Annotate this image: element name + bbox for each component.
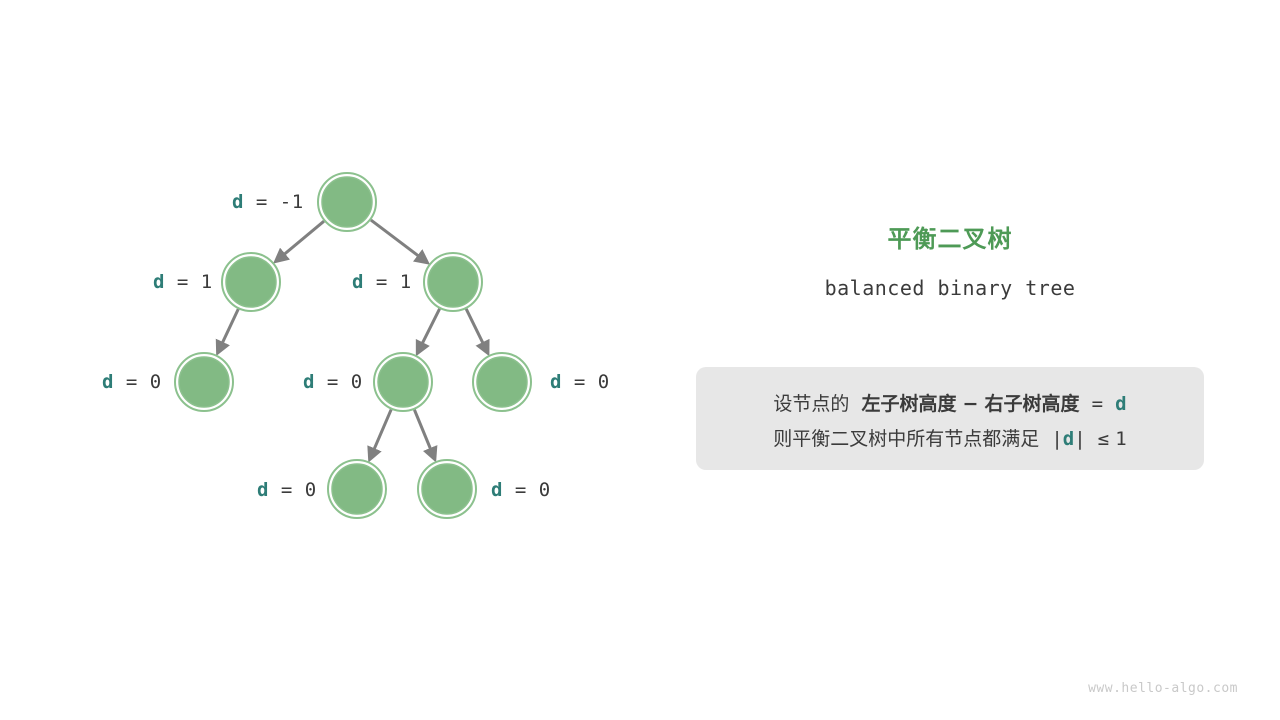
constraint-value: 1 (1115, 428, 1126, 450)
balance-value: = -1 (244, 191, 304, 213)
balance-symbol-d: d (257, 479, 269, 501)
node-balance-label: d = -1 (232, 193, 304, 212)
definition-box: 设节点的 左子树高度 − 右子树高度 = d 则平衡二叉树中所有节点都满足 |d… (696, 367, 1204, 470)
node-balance-label: d = 0 (257, 481, 317, 500)
balance-symbol-d: d (232, 191, 244, 213)
tree-node[interactable] (222, 253, 280, 311)
balance-symbol-d: d (303, 371, 315, 393)
node-disc (378, 357, 428, 407)
balance-value: = 0 (269, 479, 317, 501)
definition-line-1: 设节点的 左子树高度 − 右子树高度 = d (696, 395, 1204, 414)
tree-node[interactable] (418, 460, 476, 518)
panel-title: 平衡二叉树 (696, 225, 1204, 254)
tree-node[interactable] (175, 353, 233, 411)
tree-edge (414, 410, 433, 457)
definition-minus: − (963, 393, 979, 415)
abs-bar-left: | (1051, 428, 1062, 450)
constraint-relation: ≤ (1098, 428, 1109, 450)
node-disc (179, 357, 229, 407)
tree-edge (219, 309, 238, 350)
node-disc (226, 257, 276, 307)
binary-tree-diagram (0, 0, 660, 600)
balance-symbol-d: d (352, 271, 364, 293)
node-balance-label: d = 0 (102, 373, 162, 392)
node-disc (322, 177, 372, 227)
tree-edge (371, 410, 391, 457)
balance-value: = 0 (315, 371, 363, 393)
panel-subtitle: balanced binary tree (696, 276, 1204, 300)
node-balance-label: d = 1 (153, 273, 213, 292)
balance-symbol-d: d (102, 371, 114, 393)
tree-edge (371, 220, 425, 261)
node-disc (422, 464, 472, 514)
balance-symbol-d: d (491, 479, 503, 501)
node-balance-label: d = 0 (550, 373, 610, 392)
tree-node[interactable] (318, 173, 376, 231)
watermark: www.hello-algo.com (1088, 682, 1238, 695)
definition-prefix: 设节点的 (773, 393, 849, 415)
abs-bar-right: | (1074, 428, 1085, 450)
tree-node[interactable] (473, 353, 531, 411)
definition-line-2: 则平衡二叉树中所有节点都满足 |d| ≤ 1 (696, 430, 1204, 449)
tree-edge (278, 221, 324, 259)
info-panel: 平衡二叉树 balanced binary tree (696, 225, 1204, 300)
node-disc (477, 357, 527, 407)
tree-node[interactable] (374, 353, 432, 411)
node-balance-label: d = 0 (491, 481, 551, 500)
balance-value: = 1 (364, 271, 412, 293)
balance-value: = 0 (114, 371, 162, 393)
constraint-symbol-d: d (1063, 428, 1074, 450)
tree-edge (466, 309, 486, 351)
tree-node[interactable] (424, 253, 482, 311)
definition-bold-right: 右子树高度 (985, 393, 1080, 415)
definition-bold-left: 左子树高度 (861, 393, 956, 415)
node-disc (428, 257, 478, 307)
tree-node[interactable] (328, 460, 386, 518)
balance-value: = 0 (562, 371, 610, 393)
balance-symbol-d: d (550, 371, 562, 393)
node-layer (175, 173, 531, 518)
edge-layer (219, 220, 487, 457)
figure-canvas: d = -1d = 1d = 1d = 0d = 0d = 0d = 0d = … (0, 0, 1280, 720)
tree-edge (419, 309, 440, 351)
balance-value: = 1 (165, 271, 213, 293)
node-balance-label: d = 0 (303, 373, 363, 392)
definition-symbol-d: d (1115, 393, 1126, 415)
balance-symbol-d: d (153, 271, 165, 293)
constraint-prefix: 则平衡二叉树中所有节点都满足 (773, 428, 1039, 450)
node-balance-label: d = 1 (352, 273, 412, 292)
node-disc (332, 464, 382, 514)
balance-value: = 0 (503, 479, 551, 501)
definition-equals: = (1092, 393, 1103, 415)
